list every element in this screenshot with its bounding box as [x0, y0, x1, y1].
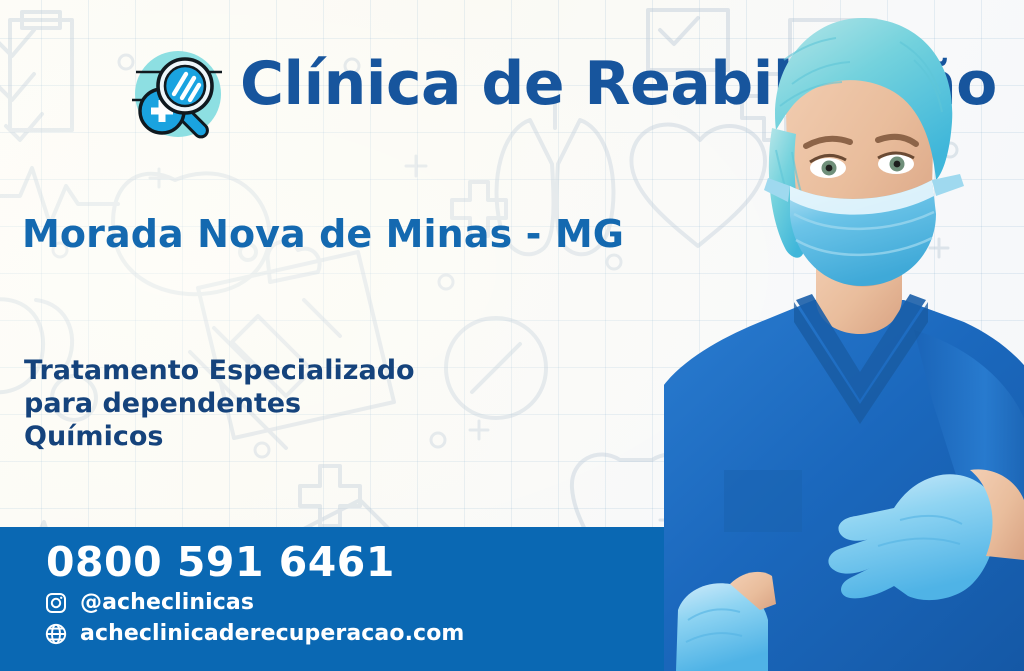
website-contact[interactable]: acheclinicaderecuperacao.com: [44, 621, 464, 646]
phone-number[interactable]: 0800 591 6461: [46, 538, 395, 586]
instagram-icon: [44, 591, 68, 615]
nurse-photo: [664, 0, 1024, 671]
location-heading: Morada Nova de Minas - MG: [22, 212, 624, 256]
tagline-line-2: para dependentes: [24, 388, 415, 421]
tagline: Tratamento Especializado para dependente…: [24, 355, 415, 454]
instagram-handle: @acheclinicas: [80, 590, 254, 615]
instagram-contact[interactable]: @acheclinicas: [44, 590, 254, 615]
tagline-line-1: Tratamento Especializado: [24, 355, 415, 388]
clinic-banner: Clínica de Reabilitação Morada Nova de M…: [0, 0, 1024, 671]
magnifier-plus-icon: [130, 48, 226, 146]
tagline-line-3: Químicos: [24, 421, 415, 454]
website-url: acheclinicaderecuperacao.com: [80, 621, 464, 646]
globe-icon: [44, 622, 68, 646]
